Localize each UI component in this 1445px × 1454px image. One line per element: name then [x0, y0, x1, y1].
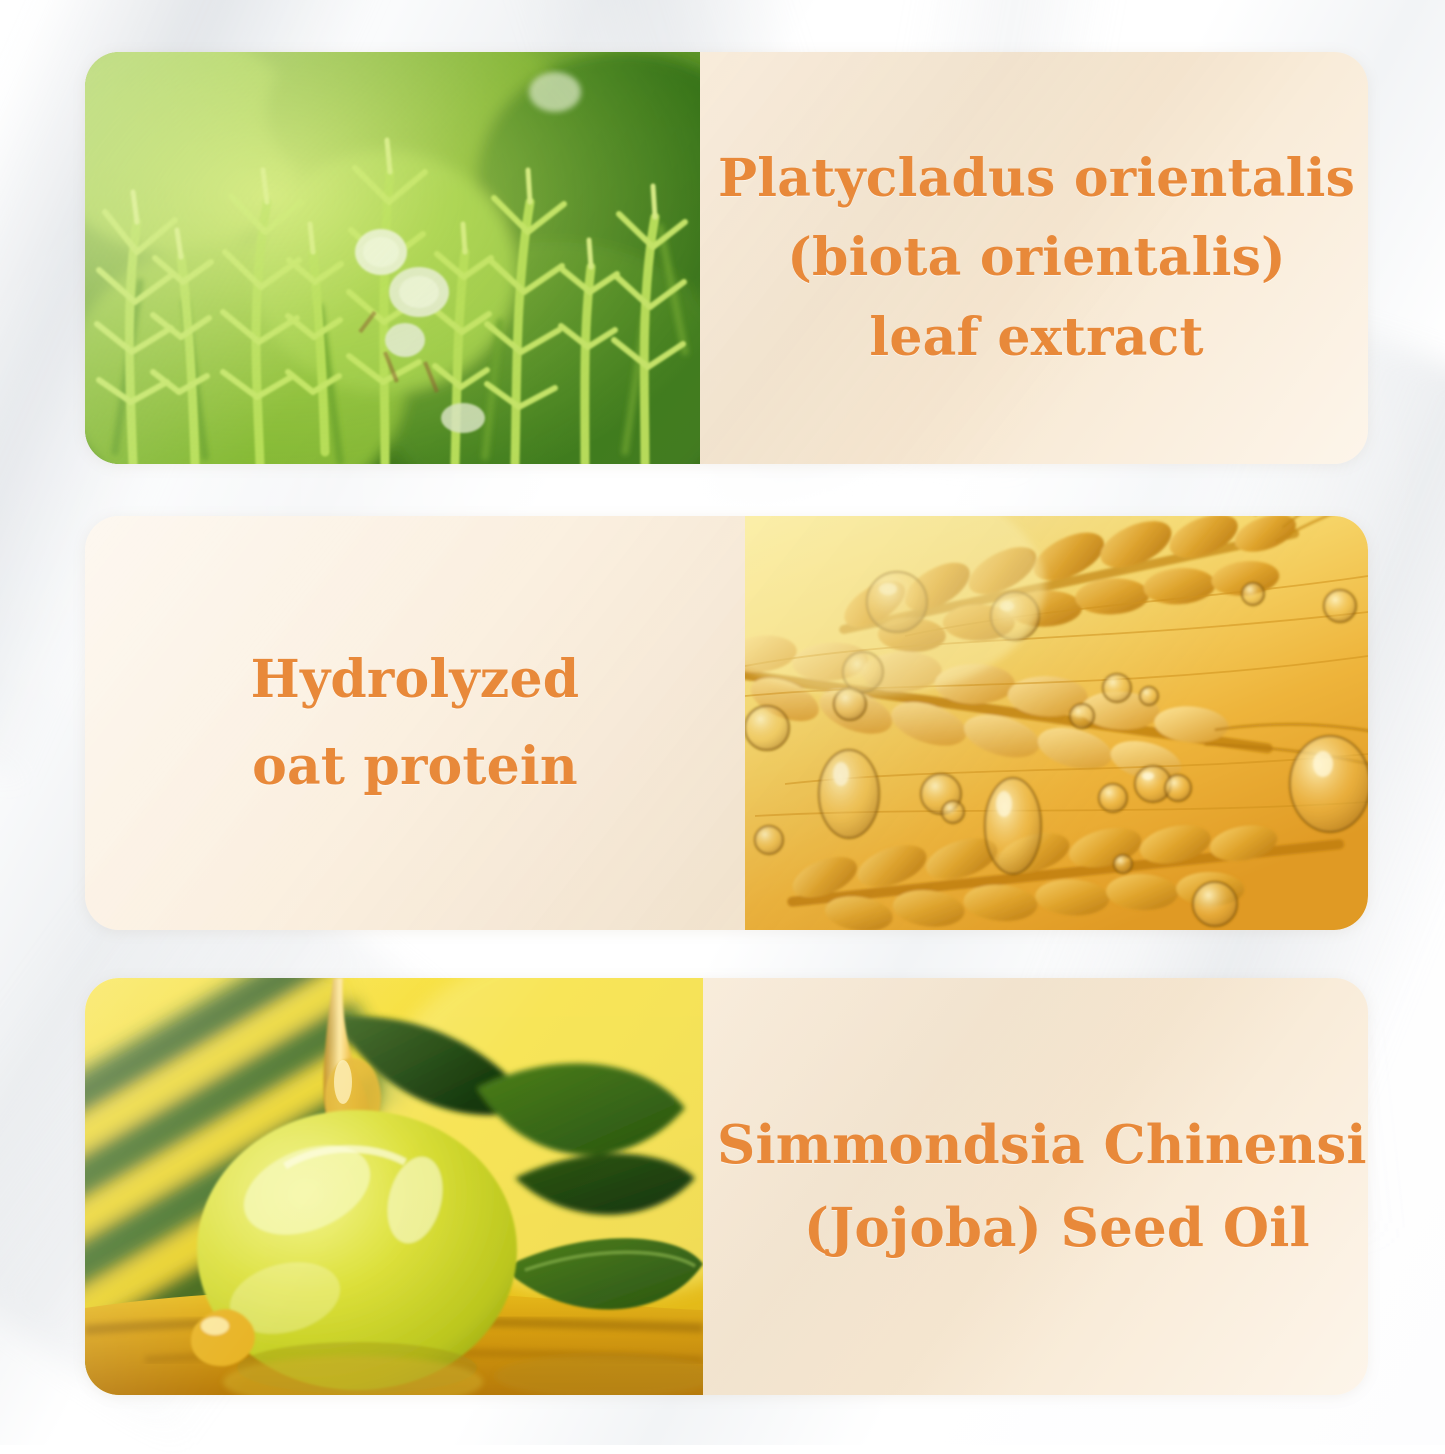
- caption-line: leaf extract: [869, 298, 1203, 377]
- caption-line: Hydrolyzed: [251, 636, 580, 723]
- ingredient-card-oat-protein: Hydrolyzed oat protein: [85, 516, 1368, 930]
- caption-line: Platycladus orientalis: [718, 139, 1355, 218]
- wheat-oil-photo: [745, 516, 1368, 930]
- card-caption-jojoba: Simmondsia Chinensis (Jojoba) Seed Oil: [703, 978, 1368, 1395]
- caption-line: oat protein: [252, 723, 578, 810]
- caption-line: Simmondsia Chinensis: [717, 1104, 1368, 1187]
- conifer-foliage-photo: [85, 52, 700, 464]
- caption-line: (biota orientalis): [787, 218, 1286, 297]
- card-caption-platycladus: Platycladus orientalis (biota orientalis…: [700, 52, 1368, 464]
- ingredient-card-jojoba: Simmondsia Chinensis (Jojoba) Seed Oil: [85, 978, 1368, 1395]
- caption-line: (Jojoba) Seed Oil: [804, 1187, 1310, 1270]
- card-caption-oat-protein: Hydrolyzed oat protein: [85, 516, 745, 930]
- ingredient-card-platycladus: Platycladus orientalis (biota orientalis…: [85, 52, 1368, 464]
- jojoba-berry-photo: [85, 978, 703, 1395]
